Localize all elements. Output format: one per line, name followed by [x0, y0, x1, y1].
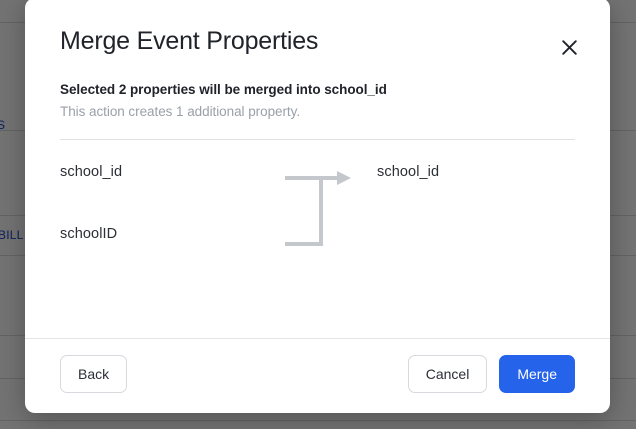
merge-event-properties-dialog: Merge Event Properties Selected 2 proper…	[25, 0, 610, 413]
merge-summary-subtext: This action creates 1 additional propert…	[60, 104, 575, 119]
cancel-button[interactable]: Cancel	[408, 355, 488, 393]
footer-actions: Cancel Merge	[408, 355, 575, 393]
dialog-footer: Back Cancel Merge	[25, 338, 610, 413]
screen-root: S BILL Merge Event Properties Selected 2…	[0, 0, 636, 429]
dialog-header: Merge Event Properties	[25, 0, 610, 56]
page-title: Merge Event Properties	[60, 28, 575, 56]
source-property-label: school_id	[60, 164, 122, 180]
source-property-label: schoolID	[60, 226, 117, 242]
header-divider	[60, 139, 575, 140]
merge-summary-headline: Selected 2 properties will be merged int…	[60, 82, 575, 97]
merge-diagram: school_id schoolID school_id	[60, 162, 575, 302]
merge-button[interactable]: Merge	[499, 355, 575, 393]
dialog-body: Selected 2 properties will be merged int…	[25, 56, 610, 339]
back-button[interactable]: Back	[60, 355, 127, 393]
target-property-label: school_id	[377, 164, 439, 180]
merge-arrow-icon	[283, 166, 373, 256]
close-icon	[561, 39, 578, 56]
